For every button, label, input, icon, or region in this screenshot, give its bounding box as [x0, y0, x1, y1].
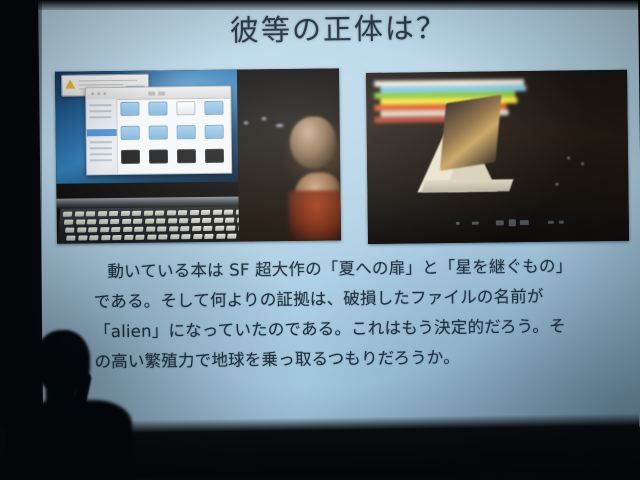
keyboard-key [66, 236, 76, 241]
keyboard-key [109, 211, 119, 216]
screen-bottom-border [0, 413, 640, 480]
keyboard-key [78, 235, 88, 240]
keyboard-key [87, 219, 97, 224]
corrupt-file-icon[interactable] [149, 149, 168, 163]
book-video-photo [366, 70, 629, 244]
corrupt-file-icon[interactable] [121, 150, 140, 164]
person-head [290, 116, 337, 169]
macbook-screen [55, 70, 238, 184]
fullscreen-icon[interactable] [559, 221, 564, 224]
keyboard-key [158, 234, 168, 239]
document-icon[interactable] [176, 101, 195, 115]
keyboard-key [189, 210, 199, 215]
keyboard-key [124, 235, 134, 240]
keyboard-key [225, 218, 235, 223]
open-book [416, 99, 517, 192]
previous-icon[interactable] [472, 222, 479, 225]
keyboard-key [135, 235, 145, 240]
folder-icon[interactable] [120, 102, 139, 116]
keyboard-key [190, 218, 200, 223]
keyboard-key [144, 219, 154, 224]
macos-dock [56, 182, 238, 184]
keyboard-key [121, 219, 131, 224]
screen-top-border [0, 0, 640, 10]
keyboard-key [76, 227, 86, 232]
keyboard-key [167, 218, 177, 223]
keyboard-key [133, 219, 143, 224]
keyboard-key [191, 226, 201, 231]
keyboard-key [178, 210, 188, 215]
keyboard-key [213, 218, 223, 223]
keyboard-key [111, 227, 121, 232]
keyboard-key [156, 218, 166, 223]
keyboard-key [155, 210, 165, 215]
keyboard-key [226, 226, 236, 231]
keyboard-key [166, 210, 176, 215]
book-cover [440, 95, 502, 171]
camera-photo-frame: 彼等の正体は？ [0, 0, 640, 480]
fast-forward-icon[interactable] [520, 220, 529, 225]
keyboard-key [97, 211, 107, 216]
presentation-slide: 彼等の正体は？ [38, 0, 640, 434]
desk-laptop-photo [55, 68, 341, 243]
keyboard-key [122, 227, 132, 232]
keyboard-key [216, 234, 226, 239]
keyboard-key [181, 234, 191, 239]
slide-title: 彼等の正体は？ [38, 3, 638, 52]
folder-icon[interactable] [148, 101, 167, 115]
keyboard-key [202, 218, 212, 223]
corrupt-file-icon[interactable] [205, 149, 224, 163]
keyboard-key [65, 228, 75, 233]
keyboard-key [224, 210, 234, 215]
keyboard-key [110, 219, 120, 224]
slide-body-text: 動いている本は SF 超大作の「夏への扉」と「星を継ぐもの」 である。そして何よ… [93, 251, 604, 377]
keyboard-key [145, 227, 155, 232]
laptop-keyboard [57, 206, 251, 243]
folder-icon[interactable] [177, 125, 196, 139]
keyboard-key [75, 219, 85, 224]
warning-icon [65, 80, 75, 89]
folder-icon[interactable] [205, 125, 224, 139]
finder-window [85, 86, 232, 176]
keyboard-key [143, 211, 153, 216]
keyboard-key [112, 235, 122, 240]
person-shirt [288, 190, 341, 241]
volume-icon[interactable] [548, 221, 554, 224]
folder-icon[interactable] [204, 101, 223, 115]
keyboard-key [134, 227, 144, 232]
keyboard-key [212, 210, 222, 215]
keyboard-key [132, 211, 142, 216]
keyboard-key [63, 212, 73, 217]
video-player-controls[interactable] [456, 218, 566, 227]
keyboard-key [147, 235, 157, 240]
keyboard-key [120, 211, 130, 216]
keyboard-key [101, 235, 111, 240]
body-line: の高い繁殖力で地球を乗っ取るつもりだろうか。 [94, 341, 604, 377]
screen-left-border [0, 0, 42, 480]
keyboard-key [193, 234, 203, 239]
finder-sidebar [86, 99, 118, 174]
book-page-bottom [421, 179, 513, 192]
keyboard-key [98, 219, 108, 224]
keyboard-key [204, 234, 214, 239]
keyboard-key [203, 226, 213, 231]
keyboard-key [168, 226, 178, 231]
corrupt-file-icon[interactable] [177, 149, 196, 163]
keyboard-key [89, 235, 99, 240]
keyboard-key [157, 226, 167, 231]
keyboard-key [74, 211, 84, 216]
rewind-icon[interactable] [496, 220, 504, 225]
finder-icon-grid [120, 101, 227, 170]
dark-desk-area [237, 68, 341, 241]
rewind-icon[interactable] [456, 222, 460, 225]
body-line: 「alien」になっていたのである。これはもう決定的だろう。そ [94, 311, 604, 347]
keyboard-key [201, 210, 211, 215]
keyboard-key [86, 211, 96, 216]
keyboard-key [88, 227, 98, 232]
keyboard-key [64, 220, 74, 225]
keyboard-key [170, 234, 180, 239]
keyboard-key [99, 227, 109, 232]
play-icon[interactable] [509, 219, 516, 226]
keyboard-key [227, 234, 237, 239]
folder-icon[interactable] [121, 126, 140, 140]
keyboard-key [214, 226, 224, 231]
keyboard-key [179, 218, 189, 223]
keyboard-key [180, 226, 190, 231]
folder-icon[interactable] [149, 125, 168, 139]
slide-photo-row [55, 65, 629, 248]
